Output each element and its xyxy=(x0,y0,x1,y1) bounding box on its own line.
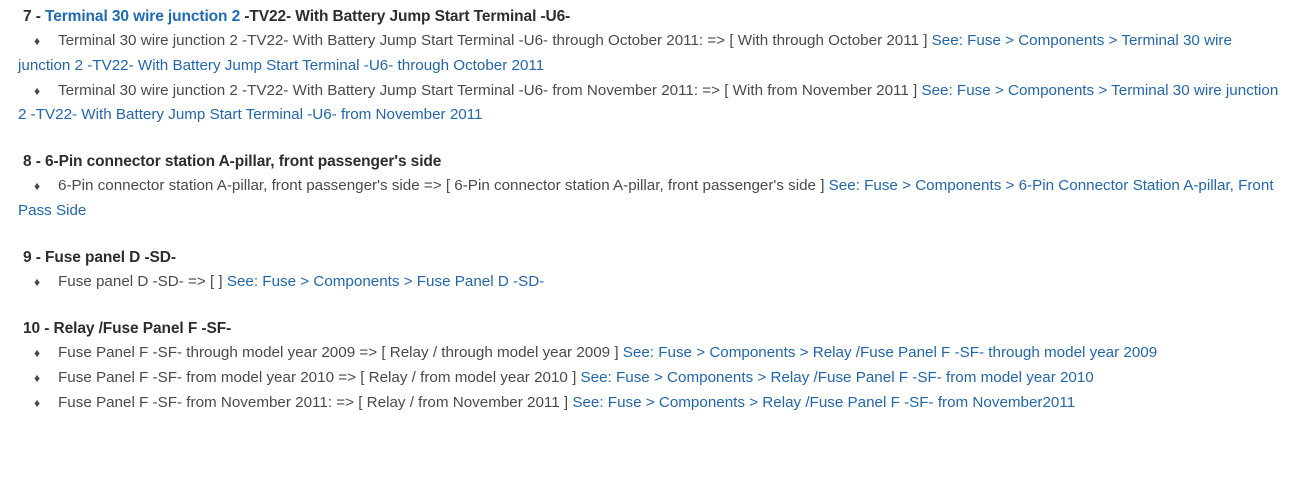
list-item-text: Terminal 30 wire junction 2 -TV22- With … xyxy=(58,82,921,99)
section-9: 9 - Fuse panel D -SD- ♦Fuse panel D -SD-… xyxy=(18,247,1283,295)
diamond-bullet-icon: ♦ xyxy=(34,273,58,292)
section-heading-9: 9 - Fuse panel D -SD- xyxy=(23,247,1283,269)
diamond-bullet-icon: ♦ xyxy=(34,32,58,51)
diamond-bullet-icon: ♦ xyxy=(34,394,58,413)
diamond-bullet-icon: ♦ xyxy=(34,344,58,363)
list-item-text: Fuse panel D -SD- => [ ] xyxy=(58,273,227,290)
section-heading-7-prefix: 7 - xyxy=(23,8,45,25)
section-heading-7: 7 - Terminal 30 wire junction 2 -TV22- W… xyxy=(23,6,1283,28)
list-item: ♦Fuse Panel F -SF- from model year 2010 … xyxy=(18,366,1283,391)
section-8: 8 - 6-Pin connector station A-pillar, fr… xyxy=(18,151,1283,224)
bullet-list-9: ♦Fuse panel D -SD- => [ ] See: Fuse > Co… xyxy=(18,270,1283,295)
component-list-page: 7 - Terminal 30 wire junction 2 -TV22- W… xyxy=(0,0,1301,415)
list-item-link[interactable]: See: Fuse > Components > Relay /Fuse Pan… xyxy=(581,369,1094,386)
list-item-text: 6-Pin connector station A-pillar, front … xyxy=(58,177,829,194)
section-7: 7 - Terminal 30 wire junction 2 -TV22- W… xyxy=(18,6,1283,128)
bullet-list-10: ♦Fuse Panel F -SF- through model year 20… xyxy=(18,341,1283,415)
list-item: ♦6-Pin connector station A-pillar, front… xyxy=(18,174,1283,223)
section-heading-10-prefix: 10 - Relay /Fuse Panel F -SF- xyxy=(23,320,231,337)
section-10: 10 - Relay /Fuse Panel F -SF- ♦Fuse Pane… xyxy=(18,318,1283,415)
section-heading-7-suffix: -TV22- With Battery Jump Start Terminal … xyxy=(240,8,570,25)
section-heading-8: 8 - 6-Pin connector station A-pillar, fr… xyxy=(23,151,1283,173)
diamond-bullet-icon: ♦ xyxy=(34,369,58,388)
diamond-bullet-icon: ♦ xyxy=(34,177,58,196)
list-item: ♦Fuse panel D -SD- => [ ] See: Fuse > Co… xyxy=(18,270,1283,295)
section-heading-8-prefix: 8 - 6-Pin connector station A-pillar, fr… xyxy=(23,153,441,170)
section-heading-9-prefix: 9 - Fuse panel D -SD- xyxy=(23,249,176,266)
list-item-text: Fuse Panel F -SF- through model year 200… xyxy=(58,344,623,361)
section-heading-7-highlight: Terminal 30 wire junction 2 xyxy=(45,8,240,25)
list-item-link[interactable]: See: Fuse > Components > Relay /Fuse Pan… xyxy=(572,394,1075,411)
list-item-text: Fuse Panel F -SF- from November 2011: =>… xyxy=(58,394,572,411)
list-item-text: Terminal 30 wire junction 2 -TV22- With … xyxy=(58,32,932,49)
list-item-link[interactable]: See: Fuse > Components > Fuse Panel D -S… xyxy=(227,273,544,290)
list-item-text: Fuse Panel F -SF- from model year 2010 =… xyxy=(58,369,581,386)
list-item-link[interactable]: See: Fuse > Components > Relay /Fuse Pan… xyxy=(623,344,1157,361)
list-item: ♦Terminal 30 wire junction 2 -TV22- With… xyxy=(18,79,1283,128)
list-item: ♦Terminal 30 wire junction 2 -TV22- With… xyxy=(18,29,1283,78)
section-heading-10: 10 - Relay /Fuse Panel F -SF- xyxy=(23,318,1283,340)
list-item: ♦Fuse Panel F -SF- from November 2011: =… xyxy=(18,391,1283,416)
list-item: ♦Fuse Panel F -SF- through model year 20… xyxy=(18,341,1283,366)
bullet-list-8: ♦6-Pin connector station A-pillar, front… xyxy=(18,174,1283,223)
bullet-list-7: ♦Terminal 30 wire junction 2 -TV22- With… xyxy=(18,29,1283,128)
diamond-bullet-icon: ♦ xyxy=(34,82,58,101)
